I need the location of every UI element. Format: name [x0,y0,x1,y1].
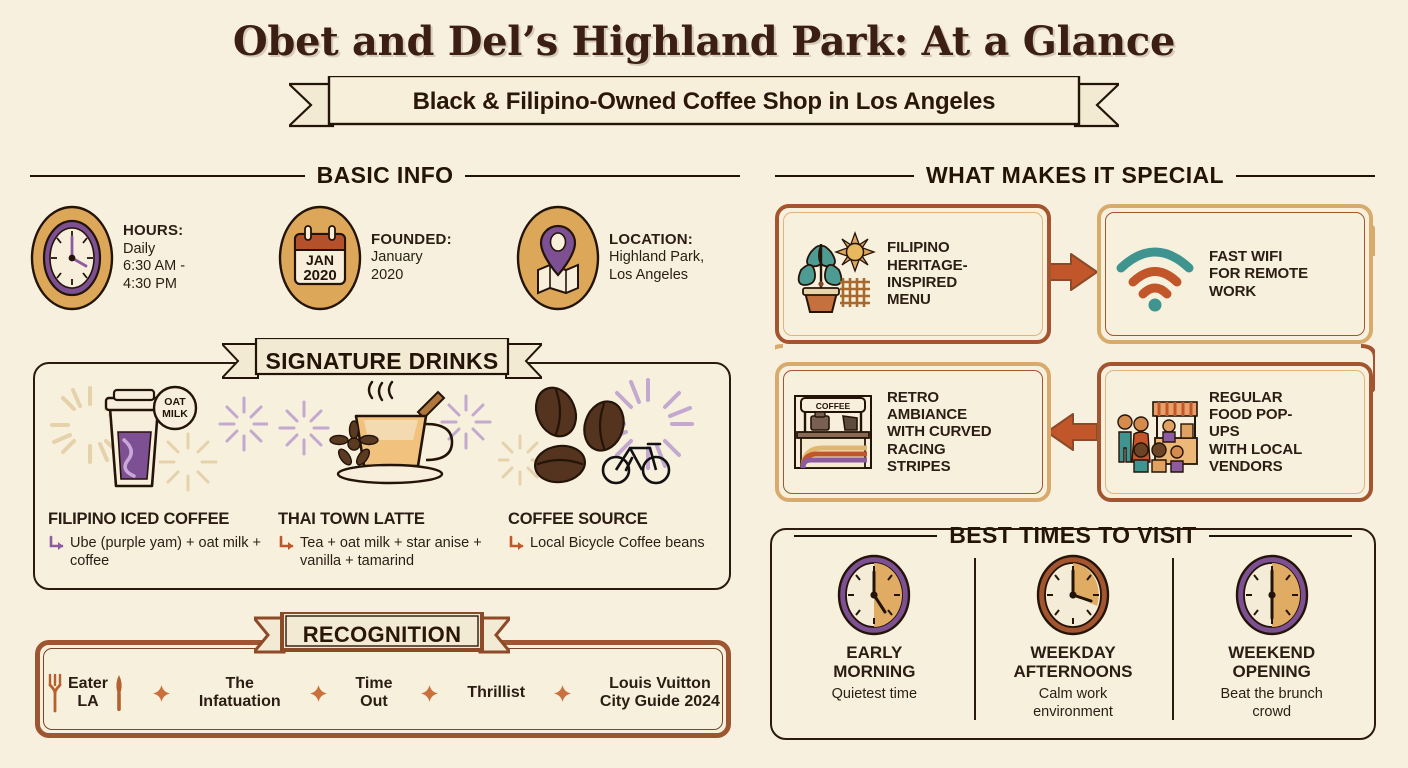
basic-info-key: HOURS: [123,222,185,240]
basic-info-text: FOUNDED: January 2020 [371,231,452,285]
svg-text:MILK: MILK [162,408,188,420]
basic-info-item-hours: HOURS: Daily 6:30 AM - 4:30 PM [30,197,278,319]
basic-info-text: HOURS: Daily 6:30 AM - 4:30 PM [123,222,185,293]
recognition-item-the-infatuation: The Infatuation [199,675,281,711]
basic-info-row: HOURS: Daily 6:30 AM - 4:30 PM JAN 2020 … [30,197,740,319]
best-times-columns: EARLY MORNING Quietest time WEEKDAY AFTE… [775,548,1371,734]
svg-text:2020: 2020 [303,267,336,284]
svg-text:JAN: JAN [306,252,334,268]
drink-description: Tea + oat milk + star anise + vanilla + … [300,534,498,571]
divider-line-right [465,175,740,177]
drink-name: FILIPINO ICED COFFEE [48,510,229,529]
diamond-separator-icon [310,685,327,702]
diamond-separator-icon [153,685,170,702]
map-pin-icon [516,204,600,312]
recognition-label: Louis Vuitton City Guide 2024 [600,675,720,711]
drink-item-filipino-iced-coffee: OAT MILK FILIPINO ICED COFFEE Ube (purpl… [38,372,268,587]
recognition-label: Eater LA [68,675,108,711]
basic-info-item-founded: JAN 2020 FOUNDED: January 2020 [278,197,516,319]
best-time-subtitle: Beat the brunch crowd [1220,686,1322,721]
basic-info-key: FOUNDED: [371,231,452,249]
special-card-label: FAST WIFI FOR REMOTE WORK [1209,248,1308,300]
best-time-item-weekend-opening: WEEKEND OPENING Beat the brunch crowd [1172,548,1371,734]
section-title: BASIC INFO [317,162,454,189]
section-title: WHAT MAKES IT SPECIAL [926,162,1224,189]
special-card-label: REGULAR FOOD POP- UPS WITH LOCAL VENDORS [1209,389,1302,476]
page-subtitle: Black & Filipino-Owned Coffee Shop in Lo… [289,78,1119,126]
diamond-separator-icon [421,685,438,702]
infographic-page: Obet and Del’s Highland Park: At a Glanc… [0,0,1408,768]
special-card-label: FILIPINO HERITAGE- INSPIRED MENU [887,239,968,309]
basic-info-value: Highland Park, Los Angeles [609,249,704,283]
knife-icon [114,673,124,713]
best-time-subtitle: Quietest time [832,686,917,703]
basic-info-item-location: LOCATION: Highland Park, Los Angeles [516,197,740,319]
best-time-title: EARLY MORNING [833,644,915,681]
divider-line-left [794,535,937,537]
drinks-columns: OAT MILK FILIPINO ICED COFFEE Ube (purpl… [38,372,728,587]
section-title: BEST TIMES TO VISIT [949,522,1196,549]
divider-line-right [1236,175,1375,177]
drink-name: COFFEE SOURCE [508,510,648,529]
diamond-separator-icon [554,685,571,702]
svg-text:COFFEE: COFFEE [816,401,851,411]
recognition-item-eater-la: Eater LA [48,673,124,713]
recognition-item-thrillist: Thrillist [467,684,525,702]
calendar-icon: JAN 2020 [278,204,362,312]
section-header-basic-info: BASIC INFO [30,162,740,189]
special-card-retro-ambiance[interactable]: COFFEE RETRO AMBIANCE WITH CURVED RACING… [775,362,1051,502]
svg-text:OAT: OAT [164,396,186,408]
clock-icon [1233,554,1311,636]
clock-icon [835,554,913,636]
food-popup-stall-icon [1111,388,1199,476]
recognition-item-time-out: Time Out [355,675,392,711]
wifi-icon [1111,230,1199,318]
drink-item-thai-town-latte: THAI TOWN LATTE Tea + oat milk + star an… [268,372,498,587]
page-title: Obet and Del’s Highland Park: At a Glanc… [0,18,1408,65]
best-time-title: WEEKEND OPENING [1228,644,1315,681]
drink-item-coffee-source: COFFEE SOURCE Local Bicycle Coffee beans [498,372,728,587]
latte-cup-icon [268,374,498,496]
basic-info-key: LOCATION: [609,231,704,249]
recognition-label: Time Out [355,675,392,711]
best-time-title: WEEKDAY AFTERNOONS [1014,644,1133,681]
section-header-best-times: BEST TIMES TO VISIT [770,522,1376,549]
best-time-item-weekday-afternoons: WEEKDAY AFTERNOONS Calm work environment [974,548,1173,734]
best-time-subtitle: Calm work environment [1033,686,1113,721]
basic-info-value: January 2020 [371,249,423,283]
special-cards-grid: FILIPINO HERITAGE- INSPIRED MENU FAST WI… [775,196,1375,494]
clock-icon [1034,554,1112,636]
drink-name: THAI TOWN LATTE [278,510,425,529]
iced-coffee-cup-icon: OAT MILK [38,374,268,496]
recognition-title: RECOGNITION [254,619,510,651]
recognition-items: Eater LA The Infatuation Time Out Thrill… [48,662,720,724]
recognition-label: The Infatuation [199,675,281,711]
special-card-fast-wifi[interactable]: FAST WIFI FOR REMOTE WORK [1097,204,1373,344]
clock-icon [30,204,114,312]
section-header-special: WHAT MAKES IT SPECIAL [775,162,1375,189]
special-card-food-popups[interactable]: REGULAR FOOD POP- UPS WITH LOCAL VENDORS [1097,362,1373,502]
divider-line-left [30,175,305,177]
drink-description: Ube (purple yam) + oat milk + coffee [70,534,268,571]
special-card-filipino-heritage[interactable]: FILIPINO HERITAGE- INSPIRED MENU [775,204,1051,344]
coffee-beans-bicycle-icon [498,374,728,496]
arrow-elbow-icon [48,535,66,553]
arrow-elbow-icon [278,535,296,553]
recognition-label: Thrillist [467,684,525,702]
plant-sun-weave-icon [789,230,877,318]
drink-description: Local Bicycle Coffee beans [530,534,705,552]
fork-icon [48,673,62,713]
divider-line-left [775,175,914,177]
basic-info-text: LOCATION: Highland Park, Los Angeles [609,231,704,285]
divider-line-right [1209,535,1352,537]
basic-info-value: Daily 6:30 AM - 4:30 PM [123,241,185,292]
recognition-item-louis-vuitton: Louis Vuitton City Guide 2024 [600,675,720,711]
arrow-elbow-icon [508,535,526,553]
special-card-label: RETRO AMBIANCE WITH CURVED RACING STRIPE… [887,389,991,476]
coffee-counter-icon: COFFEE [789,388,877,476]
best-time-item-early-morning: EARLY MORNING Quietest time [775,548,974,734]
